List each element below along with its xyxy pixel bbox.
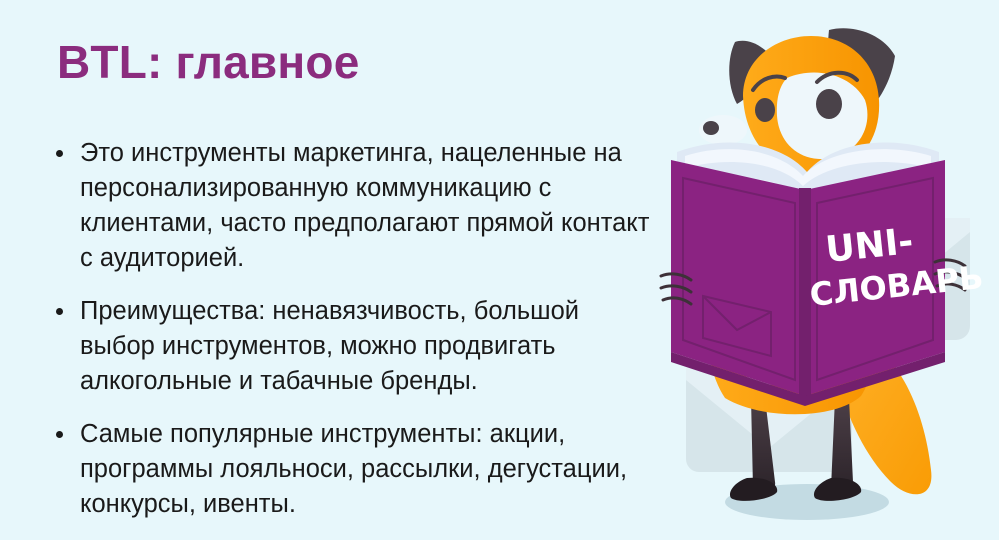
slide-canvas: BTL: главное Это инструменты маркетинга,… [0,0,999,540]
text-column: BTL: главное Это инструменты маркетинга,… [0,0,680,540]
list-item-text: Это инструменты маркетинга, нацеленные н… [80,136,652,276]
bullet-list: Это инструменты маркетинга, нацеленные н… [52,136,652,522]
list-item-text: Преимущества: ненавязчивость, большой вы… [80,294,652,399]
fox-eye-right [816,89,842,119]
bullet-dot-icon [56,308,63,315]
bullet-dot-icon [56,431,63,438]
fox-eye-left [755,98,775,122]
list-item-text: Самые популярные инструменты: акции, про… [80,417,652,522]
fox-nose [703,121,719,135]
bullet-dot-icon [56,150,63,157]
list-item: Преимущества: ненавязчивость, большой вы… [52,294,652,399]
fox-reading-book-illustration: UNI- СЛОВАРЬ [639,0,999,540]
list-item: Это инструменты маркетинга, нацеленные н… [52,136,652,276]
list-item: Самые популярные инструменты: акции, про… [52,417,652,522]
page-title: BTL: главное [57,34,359,90]
